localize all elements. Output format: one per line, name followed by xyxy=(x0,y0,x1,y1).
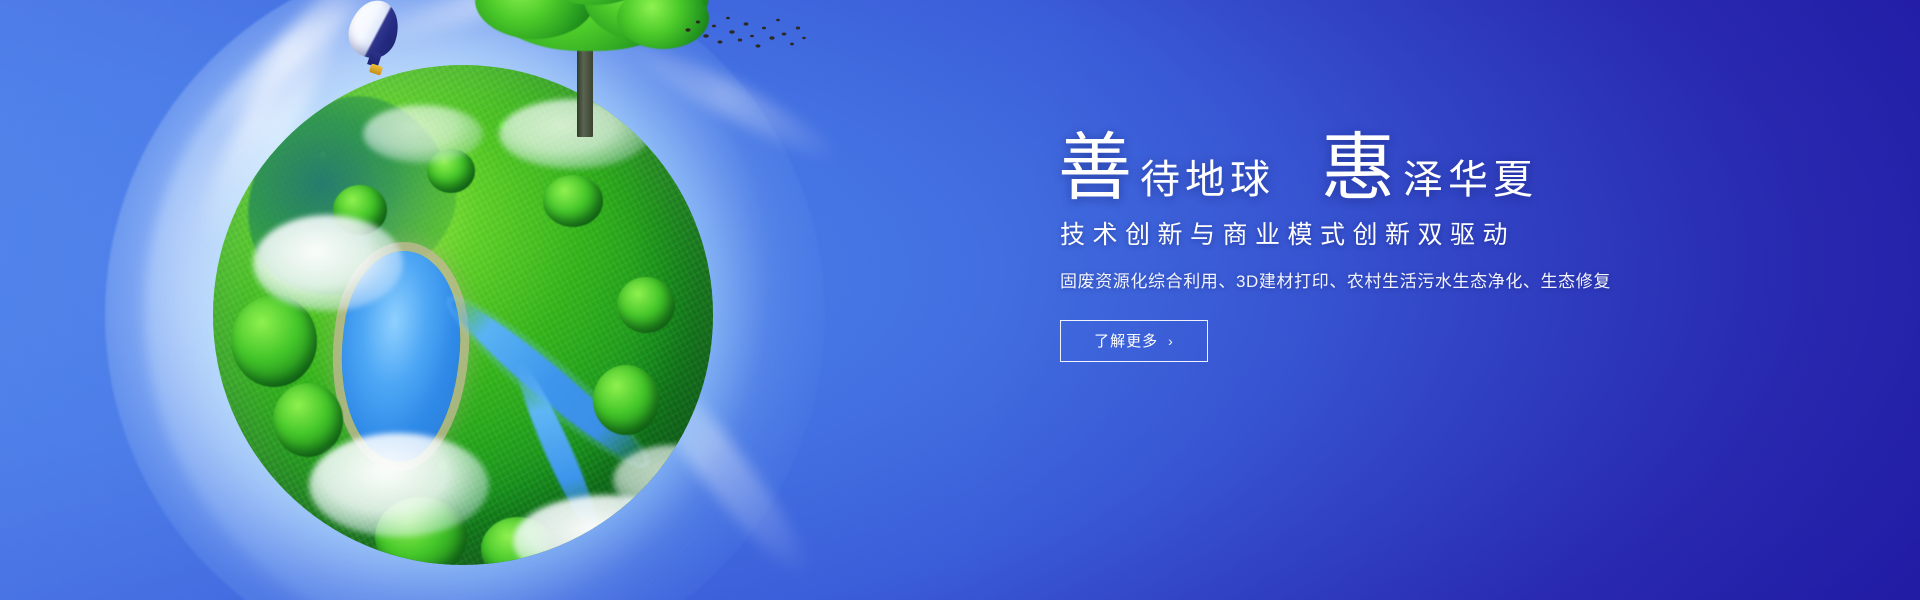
page-description: 固废资源化综合利用、3D建材打印、农村生活污水生态净化、生态修复 xyxy=(1060,270,1678,294)
learn-more-label: 了解更多 xyxy=(1094,330,1158,351)
balloon-basket xyxy=(369,63,383,75)
bush-icon xyxy=(543,175,603,227)
hero-content: 善 待地球 惠 泽华夏 技术创新与商业模式创新双驱动 固废资源化综合利用、3D建… xyxy=(1058,132,1678,362)
page-subtitle: 技术创新与商业模式创新双驱动 xyxy=(1060,220,1678,250)
page-title: 善 待地球 惠 泽华夏 xyxy=(1058,132,1678,206)
headline-char-2: 惠 xyxy=(1321,132,1395,206)
cloud-icon xyxy=(309,433,489,537)
headline-rest-2: 泽华夏 xyxy=(1403,160,1538,200)
birds-flock-icon xyxy=(680,10,810,58)
hero-banner: 善 待地球 惠 泽华夏 技术创新与商业模式创新双驱动 固废资源化综合利用、3D建… xyxy=(0,0,1920,600)
bush-icon xyxy=(617,277,675,333)
headline-rest-1: 待地球 xyxy=(1140,160,1275,200)
headline-char-1: 善 xyxy=(1058,132,1132,206)
bush-icon xyxy=(231,295,317,387)
cloud-icon xyxy=(363,105,483,163)
bush-icon xyxy=(273,383,343,457)
tiny-planet-artwork xyxy=(95,0,835,600)
hot-air-balloon-icon xyxy=(350,0,402,86)
chevron-right-icon: › xyxy=(1168,334,1174,348)
cloud-icon xyxy=(253,215,403,311)
learn-more-button[interactable]: 了解更多 › xyxy=(1060,320,1208,362)
bush-icon xyxy=(593,365,659,435)
